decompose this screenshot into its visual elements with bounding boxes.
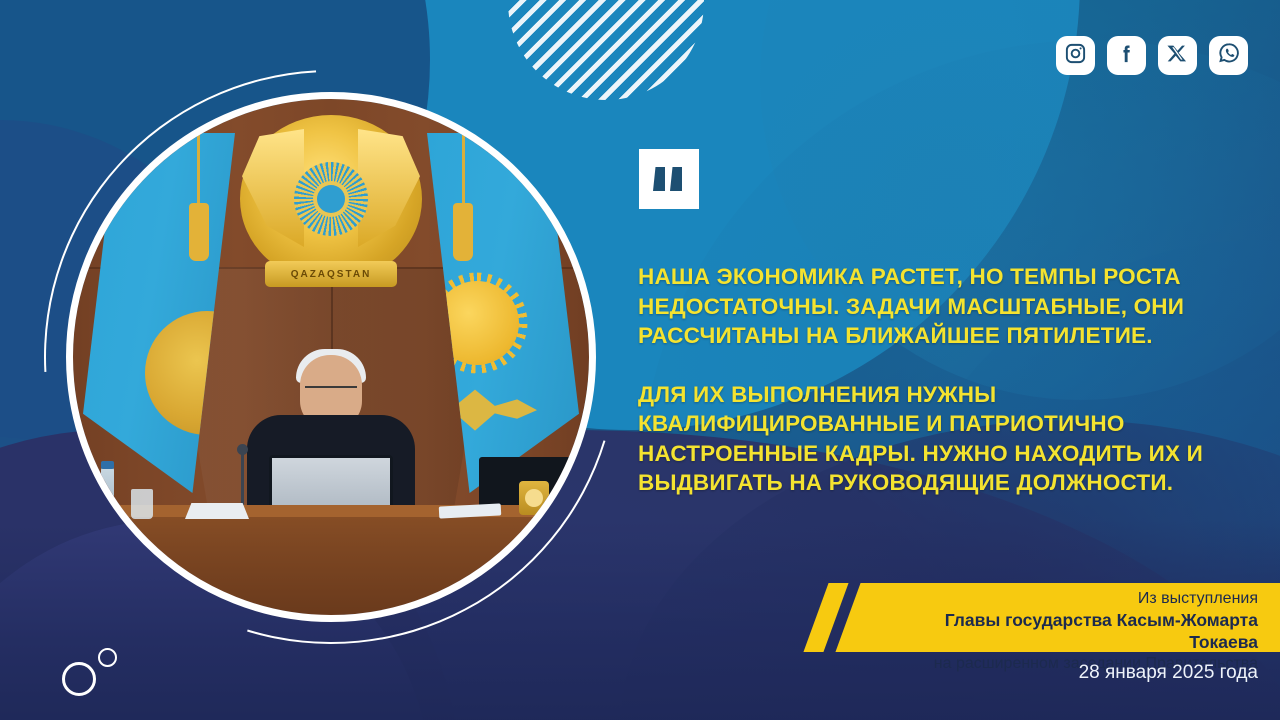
social-link-facebook[interactable]: Facebook — [1107, 36, 1146, 75]
quotation-mark-icon — [639, 149, 699, 209]
quote-text: НАША ЭКОНОМИКА РАСТЕТ, НО ТЕМПЫ РОСТА НЕ… — [638, 262, 1218, 498]
attribution-line-1: Из выступления — [880, 589, 1258, 609]
president-photo: QAZAQSTAN — [66, 92, 596, 622]
quote-paragraph-1: НАША ЭКОНОМИКА РАСТЕТ, НО ТЕМПЫ РОСТА НЕ… — [638, 262, 1218, 351]
social-link-instagram[interactable]: Instagram — [1056, 36, 1095, 75]
quote-spacer — [638, 351, 1218, 380]
attribution-banner: Из выступления Главы государства Касым-Ж… — [800, 583, 1280, 652]
speech-date: 28 января 2025 года — [800, 662, 1258, 684]
quote-paragraph-2: ДЛЯ ИХ ВЫПОЛНЕНИЯ НУЖНЫ КВАЛИФИЦИРОВАННЫ… — [638, 380, 1218, 498]
poster-canvas: Instagram Facebook X — [0, 0, 1280, 720]
social-link-whatsapp[interactable]: WhatsApp — [1209, 36, 1248, 75]
social-links: Instagram Facebook X — [1056, 36, 1248, 75]
attribution-line-2: Главы государства Касым-Жомарта Токаева — [880, 609, 1258, 653]
instagram-icon — [1064, 42, 1087, 70]
decorative-ring-small-icon — [98, 648, 117, 667]
x-twitter-icon — [1167, 43, 1188, 69]
whatsapp-icon — [1217, 41, 1241, 70]
social-link-x-twitter[interactable]: X — [1158, 36, 1197, 75]
photo-white-ring — [66, 92, 596, 622]
facebook-icon — [1115, 42, 1138, 70]
decorative-ring-large-icon — [62, 662, 96, 696]
